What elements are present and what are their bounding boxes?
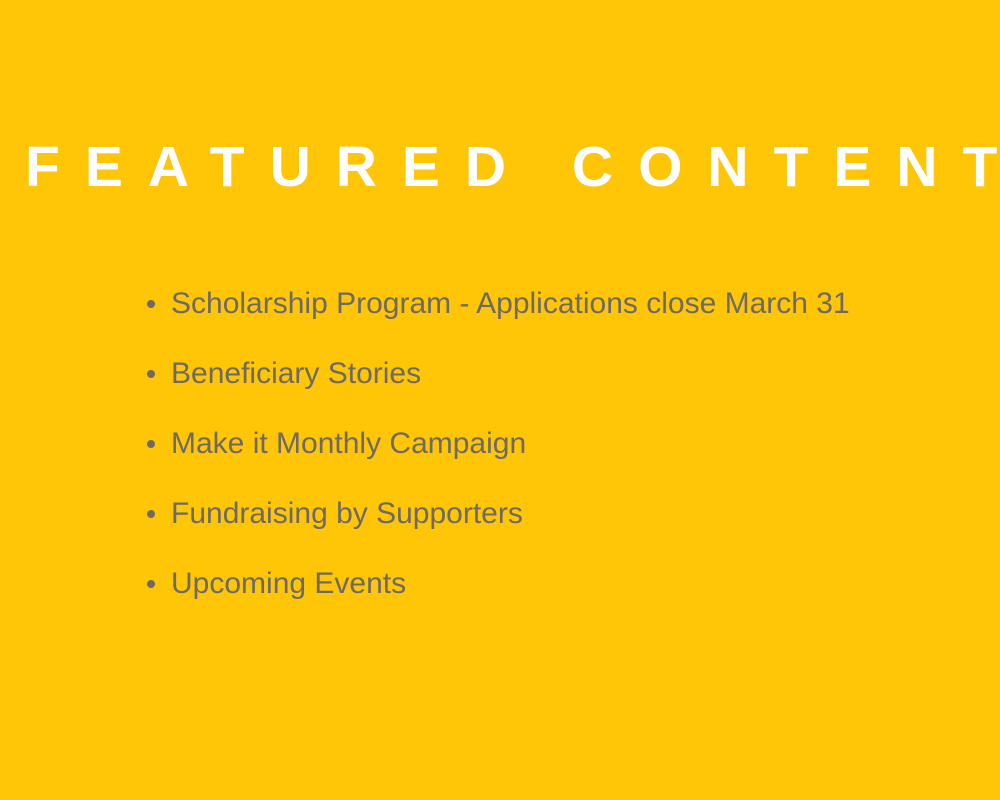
list-item[interactable]: Upcoming Events: [143, 563, 943, 633]
list-item[interactable]: Beneficiary Stories: [143, 353, 943, 423]
featured-content-list: Scholarship Program - Applications close…: [143, 283, 943, 633]
list-item[interactable]: Scholarship Program - Applications close…: [143, 283, 943, 353]
featured-content-slide: FEATURED CONTENT Scholarship Program - A…: [0, 0, 1000, 800]
list-item[interactable]: Fundraising by Supporters: [143, 493, 943, 563]
list-item-label: Upcoming Events: [171, 563, 406, 605]
bullet-dot-icon: [147, 580, 155, 588]
bullet-dot-icon: [147, 300, 155, 308]
bullet-dot-icon: [147, 370, 155, 378]
bullet-dot-icon: [147, 510, 155, 518]
list-item-label: Fundraising by Supporters: [171, 493, 523, 535]
list-item-label: Beneficiary Stories: [171, 353, 421, 395]
list-item-label: Make it Monthly Campaign: [171, 423, 526, 465]
list-item[interactable]: Make it Monthly Campaign: [143, 423, 943, 493]
list-item-label: Scholarship Program - Applications close…: [171, 283, 850, 325]
bullet-dot-icon: [147, 440, 155, 448]
page-title: FEATURED CONTENT: [0, 135, 1000, 199]
